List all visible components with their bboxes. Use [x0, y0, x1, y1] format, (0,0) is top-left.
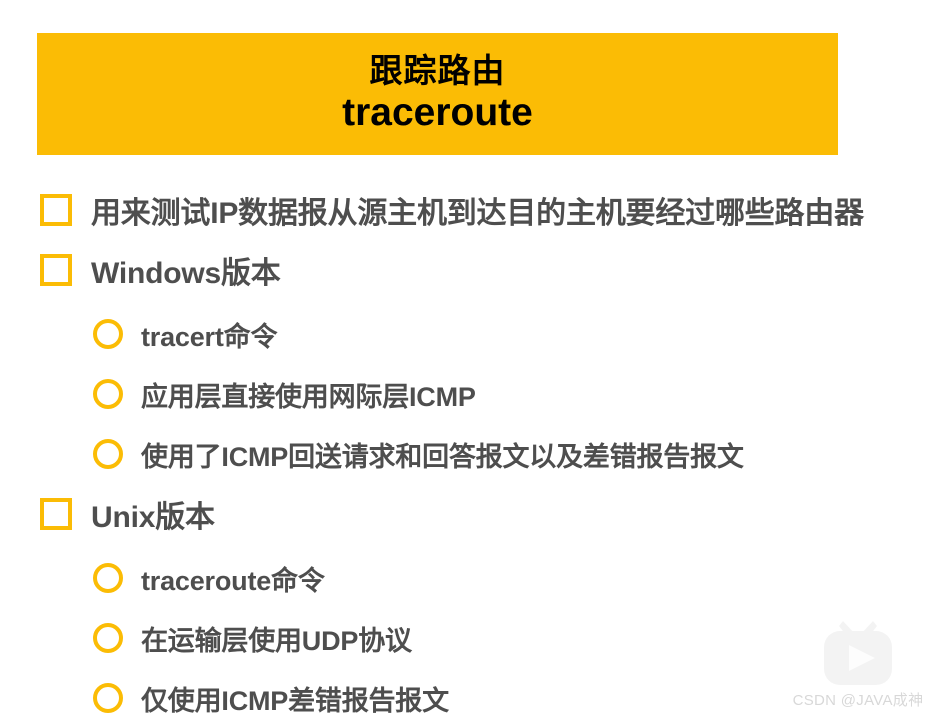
circle-bullet-icon [93, 563, 123, 593]
list-item-label: Unix版本 [91, 492, 215, 536]
list-item-label: 使用了ICMP回送请求和回答报文以及差错报告报文 [141, 435, 744, 474]
list-item: 应用层直接使用网际层ICMP [0, 364, 939, 424]
outline-list: 用来测试IP数据报从源主机到达目的主机要经过哪些路由器 Windows版本 tr… [0, 180, 939, 728]
list-item-label: 在运输层使用UDP协议 [141, 619, 412, 658]
list-item: Windows版本 [0, 240, 939, 300]
list-item-label: 用来测试IP数据报从源主机到达目的主机要经过哪些路由器 [91, 188, 864, 232]
circle-bullet-icon [93, 683, 123, 713]
circle-bullet-icon [93, 379, 123, 409]
square-bullet-icon [40, 498, 72, 530]
square-bullet-icon [40, 194, 72, 226]
list-item: traceroute命令 [0, 548, 939, 608]
list-item: tracert命令 [0, 304, 939, 364]
list-item: 用来测试IP数据报从源主机到达目的主机要经过哪些路由器 [0, 180, 939, 240]
circle-bullet-icon [93, 623, 123, 653]
list-item-label: Windows版本 [91, 248, 281, 292]
list-item: 仅使用ICMP差错报告报文 [0, 668, 939, 728]
slide-title-banner: 跟踪路由 traceroute [37, 33, 838, 155]
list-item: Unix版本 [0, 484, 939, 544]
slide-title-english: traceroute [342, 90, 533, 136]
circle-bullet-icon [93, 319, 123, 349]
list-item-label: 应用层直接使用网际层ICMP [141, 375, 476, 414]
list-item: 在运输层使用UDP协议 [0, 608, 939, 668]
square-bullet-icon [40, 254, 72, 286]
circle-bullet-icon [93, 439, 123, 469]
list-item: 使用了ICMP回送请求和回答报文以及差错报告报文 [0, 424, 939, 484]
slide-title-chinese: 跟踪路由 [370, 52, 506, 91]
list-item-label: tracert命令 [141, 315, 277, 354]
list-item-label: traceroute命令 [141, 559, 325, 598]
